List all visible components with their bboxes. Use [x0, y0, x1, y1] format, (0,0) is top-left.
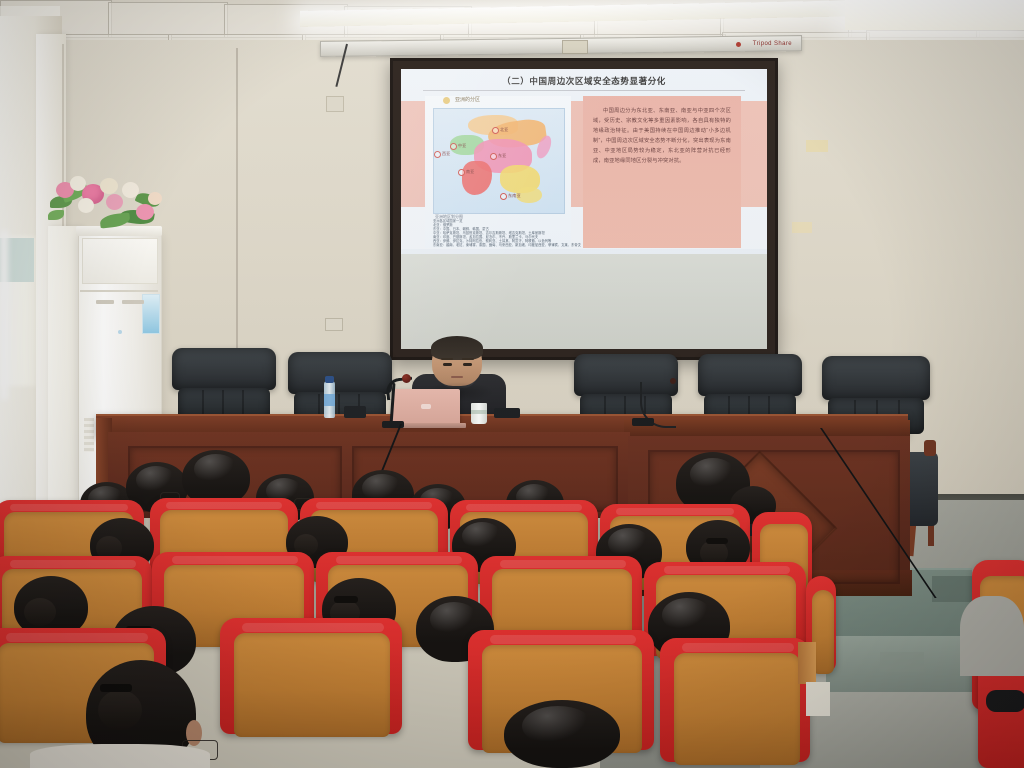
map-bullet-icon	[443, 97, 450, 104]
map-region-label: 中亚	[458, 143, 467, 149]
floor-patch	[880, 652, 924, 672]
microphone-head-icon	[670, 378, 676, 384]
audience-shoulder	[30, 744, 210, 768]
air-conditioner-seam	[80, 290, 158, 292]
speaker-eyebrow	[441, 358, 453, 360]
slide-body-text: 中国周边分为东北亚、东南亚、南亚与中亚四个次区域，受历史、宗教文化等多重因素影响…	[593, 106, 731, 166]
wall-socket[interactable]	[326, 96, 344, 112]
map-region-label: 东南亚	[508, 193, 521, 199]
slide-map-panel: 亚洲的分区 北亚 中亚	[425, 96, 571, 248]
desk-device[interactable]	[494, 408, 520, 418]
map-region-label: 东亚	[498, 153, 507, 159]
microphone-head-icon	[402, 374, 411, 383]
projection-screen: （二）中国周边次区域安全态势显著分化 亚洲的分区	[390, 58, 778, 360]
wall-switch[interactable]	[325, 318, 343, 331]
window-edge-glare	[0, 230, 8, 400]
paper-sheet	[806, 682, 830, 716]
paper-stack	[798, 642, 816, 684]
wall-tape-mark	[806, 140, 828, 152]
side-chair-armrest	[924, 440, 936, 456]
seat-arm-handle	[986, 690, 1024, 712]
speaker-hair	[431, 336, 483, 360]
water-bottle-label	[324, 394, 335, 406]
roller-bracket	[562, 40, 588, 54]
screen-blank-area	[401, 254, 767, 349]
water-bottle-cap[interactable]	[325, 376, 334, 383]
legend-row: 东南亚：越南、老挝、柬埔寨、泰国、缅甸、马来西亚、新加坡、印度尼西亚、菲律宾、文…	[433, 242, 581, 247]
slide-title-rule	[423, 90, 745, 91]
map-heading: 亚洲的分区	[455, 94, 565, 106]
lecture-hall-photo: Tripod Share （二）中国周边次区域安全态势显著分化 亚洲的分区	[0, 0, 1024, 768]
wall-pillar	[48, 226, 82, 506]
power-led-icon	[118, 330, 122, 334]
speaker-mouth	[451, 376, 463, 378]
air-conditioner-brand	[96, 300, 114, 304]
air-conditioner-model	[122, 300, 144, 304]
speaker-eye	[443, 363, 452, 366]
energy-label-sticker	[142, 294, 160, 334]
flower-arrangement	[48, 170, 168, 232]
microphone-base[interactable]	[632, 418, 654, 426]
map-region-label: 西亚	[442, 151, 451, 157]
speaker-eyebrow	[462, 358, 474, 360]
paper-cup-band	[471, 410, 487, 414]
asia-map: 北亚 中亚 东亚 西亚 南亚 东南亚	[433, 108, 565, 214]
map-region-label: 北亚	[500, 127, 509, 133]
slide-title: （二）中国周边次区域安全态势显著分化	[401, 75, 767, 87]
air-conditioner-grille	[82, 238, 158, 284]
ceiling-light-panel	[845, 0, 1024, 30]
map-legend: 亚洲各区域国家一览 北亚：俄罗斯 东亚：中国、日本、朝鲜、韩国、蒙古 中亚：哈萨…	[433, 218, 563, 248]
air-conditioner-vent	[84, 418, 94, 452]
presentation-slide: （二）中国周边次区域安全态势显著分化 亚洲的分区	[401, 69, 767, 254]
desk-device[interactable]	[344, 406, 366, 418]
wall-tape-mark	[792, 222, 812, 233]
slide-text-panel: 中国周边分为东北亚、东南亚、南亚与中亚四个次区域，受历史、宗教文化等多重因素影响…	[583, 96, 741, 248]
map-region-label: 南亚	[466, 169, 475, 175]
laptop-logo-icon	[421, 404, 431, 409]
audience-shoulder	[960, 596, 1024, 676]
speaker-eye	[463, 363, 472, 366]
roller-brand-label: Tripod Share	[738, 41, 792, 50]
